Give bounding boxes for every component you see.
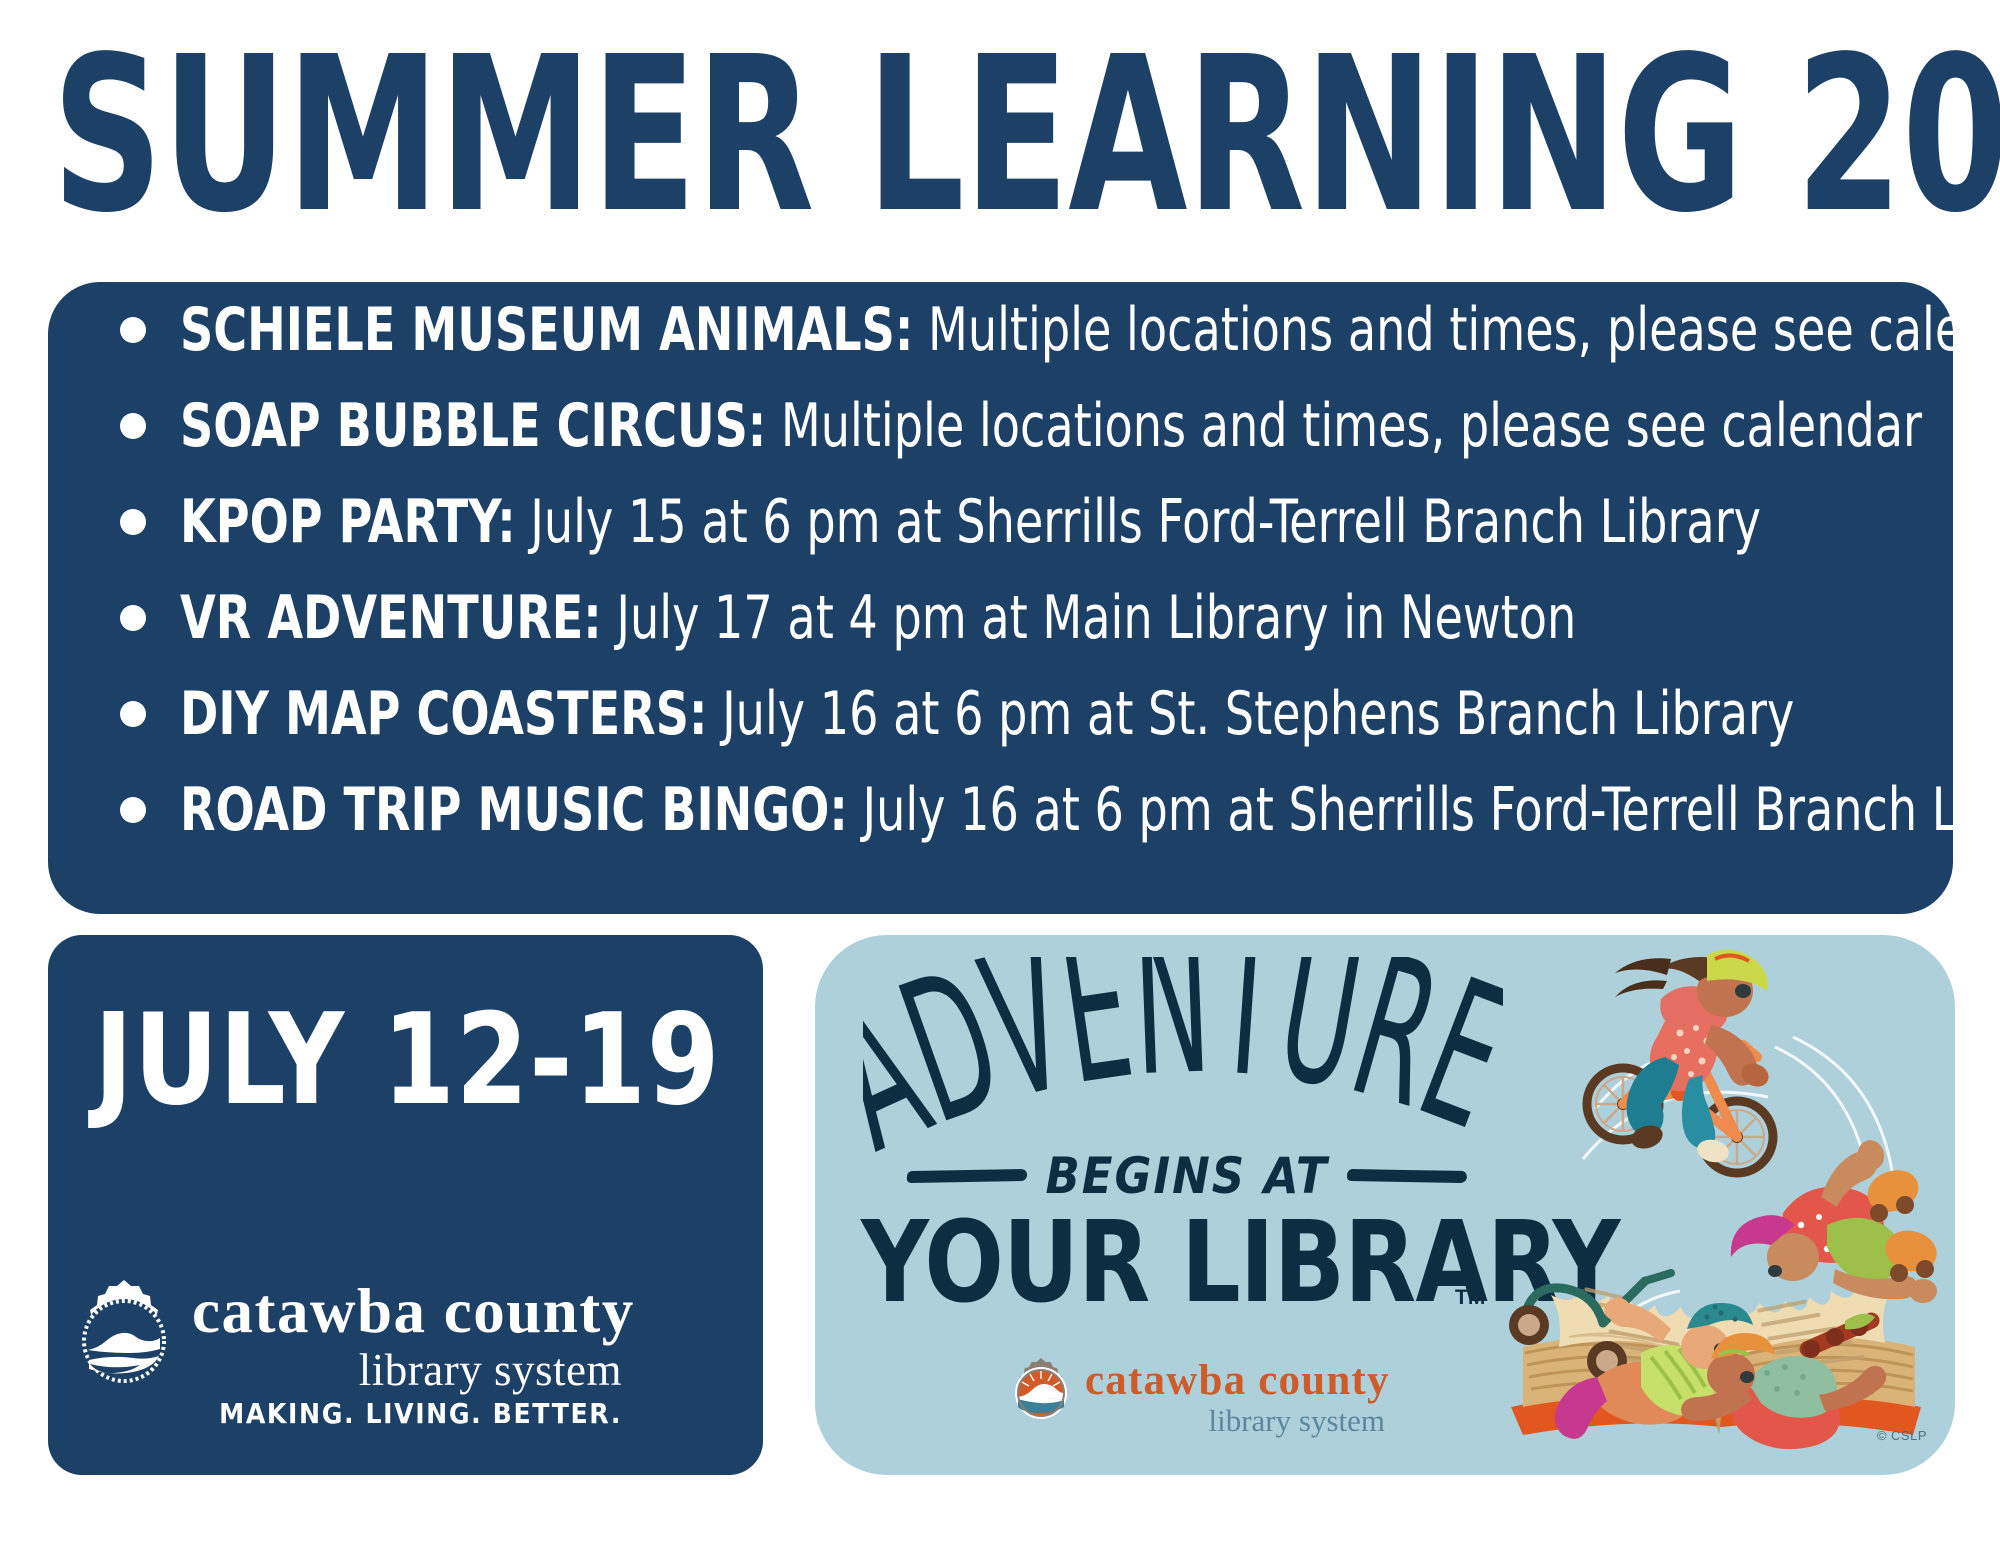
logo-name: catawba county bbox=[1085, 1359, 1390, 1402]
catawba-logo-white: catawba county library system MAKING. LI… bbox=[64, 1282, 624, 1422]
logo-tagline: MAKING. LIVING. BETTER. bbox=[192, 1399, 622, 1429]
bullet-dot-icon bbox=[120, 797, 146, 823]
begins-at-row: BEGINS AT bbox=[877, 1150, 1497, 1202]
event-name: SCHIELE MUSEUM ANIMALS: bbox=[180, 295, 913, 365]
event-detail: July 17 at 4 pm at Main Library in Newto… bbox=[602, 583, 1576, 653]
copyright-credit: © CSLP bbox=[1877, 1428, 1927, 1443]
kids-flying-out-of-open-book-illustration bbox=[1475, 935, 1945, 1475]
page-title: SUMMER LEARNING 2024 bbox=[52, 36, 1572, 236]
list-item: DIY MAP COASTERS: July 16 at 6 pm at St.… bbox=[48, 666, 1953, 762]
event-text: VR ADVENTURE: July 17 at 4 pm at Main Li… bbox=[180, 588, 1576, 648]
bullet-dot-icon bbox=[120, 701, 146, 727]
list-item: KPOP PARTY: July 15 at 6 pm at Sherrills… bbox=[48, 474, 1953, 570]
events-list: SCHIELE MUSEUM ANIMALS: Multiple locatio… bbox=[48, 282, 1953, 858]
event-text: SCHIELE MUSEUM ANIMALS: Multiple locatio… bbox=[180, 300, 1953, 360]
event-name: KPOP PARTY: bbox=[180, 487, 516, 557]
bullet-dot-icon bbox=[120, 509, 146, 535]
event-name: DIY MAP COASTERS: bbox=[180, 679, 707, 749]
adventure-headline: ADVENTURE bbox=[863, 957, 1503, 1167]
event-detail: July 15 at 6 pm at Sherrills Ford-Terrel… bbox=[516, 487, 1761, 557]
event-name: SOAP BUBBLE CIRCUS: bbox=[180, 391, 766, 461]
left-dash-icon bbox=[907, 1169, 1028, 1183]
events-panel: SCHIELE MUSEUM ANIMALS: Multiple locatio… bbox=[48, 282, 1953, 914]
right-dash-icon bbox=[1346, 1169, 1467, 1183]
gear-landscape-icon bbox=[64, 1278, 184, 1404]
list-item: VR ADVENTURE: July 17 at 4 pm at Main Li… bbox=[48, 570, 1953, 666]
poster-root: SUMMER LEARNING 2024 SCHIELE MUSEUM ANIM… bbox=[0, 0, 2000, 1545]
bullet-dot-icon bbox=[120, 605, 146, 631]
list-item: SOAP BUBBLE CIRCUS: Multiple locations a… bbox=[48, 378, 1953, 474]
list-item: ROAD TRIP MUSIC BINGO: July 16 at 6 pm a… bbox=[48, 762, 1953, 858]
begins-at-text: BEGINS AT bbox=[1045, 1150, 1328, 1202]
adventure-panel: ADVENTURE BEGINS AT YOUR LIBRARY TM bbox=[815, 935, 1955, 1475]
event-detail: July 16 at 6 pm at St. Stephens Branch L… bbox=[707, 679, 1794, 749]
event-name: VR ADVENTURE: bbox=[180, 583, 602, 653]
event-text: DIY MAP COASTERS: July 16 at 6 pm at St.… bbox=[180, 684, 1794, 744]
list-item: SCHIELE MUSEUM ANIMALS: Multiple locatio… bbox=[48, 282, 1953, 378]
event-text: ROAD TRIP MUSIC BINGO: July 16 at 6 pm a… bbox=[180, 780, 1953, 840]
event-detail: July 16 at 6 pm at Sherrills Ford-Terrel… bbox=[848, 775, 1953, 845]
svg-text:ADVENTURE: ADVENTURE bbox=[863, 957, 1503, 1167]
gear-landscape-icon bbox=[1005, 1357, 1077, 1429]
event-text: SOAP BUBBLE CIRCUS: Multiple locations a… bbox=[180, 396, 1922, 456]
bullet-dot-icon bbox=[120, 317, 146, 343]
event-text: KPOP PARTY: July 15 at 6 pm at Sherrills… bbox=[180, 492, 1761, 552]
catawba-logo-color: catawba county library system bbox=[1005, 1357, 1485, 1457]
event-detail: Multiple locations and times, please see… bbox=[913, 295, 1953, 365]
logo-name: catawba county bbox=[192, 1280, 622, 1343]
date-range: JULY 12-19 bbox=[94, 997, 720, 1123]
event-name: ROAD TRIP MUSIC BINGO: bbox=[180, 775, 848, 845]
logo-subtitle: library system bbox=[1085, 1405, 1385, 1437]
bullet-dot-icon bbox=[120, 413, 146, 439]
logo-wordmark: catawba county library system MAKING. LI… bbox=[192, 1280, 622, 1429]
logo-subtitle: library system bbox=[192, 1345, 622, 1395]
event-detail: Multiple locations and times, please see… bbox=[766, 391, 1922, 461]
